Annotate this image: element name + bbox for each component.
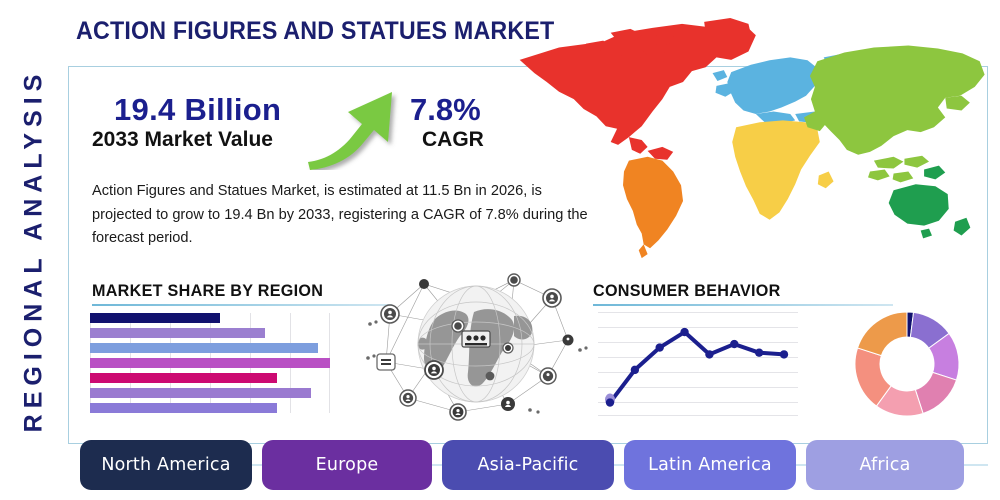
region-tab-latin-america[interactable]: Latin America <box>624 440 796 490</box>
tab-connector <box>796 464 806 466</box>
donut-slice <box>858 312 907 356</box>
tab-connector <box>252 464 262 466</box>
bar-segment <box>90 373 277 383</box>
side-label-text: REGIONAL ANALYSIS <box>20 68 49 432</box>
donut-chart-segments <box>851 308 963 420</box>
market-value-figure: 19.4 Billion <box>114 92 281 128</box>
region-tab-africa[interactable]: Africa <box>806 440 964 490</box>
market-share-section-header: MARKET SHARE BY REGION <box>92 281 392 306</box>
bar-segment <box>90 328 265 338</box>
line-chart-series <box>598 312 798 416</box>
region-tab-north-america[interactable]: North America <box>80 440 252 490</box>
regional-analysis-side-label: REGIONAL ANALYSIS <box>2 0 66 500</box>
region-tab-label: Africa <box>859 455 910 475</box>
bar-segment <box>90 403 277 413</box>
tab-connector <box>614 464 624 466</box>
cagr-figure: 7.8% <box>410 92 481 128</box>
region-tabs[interactable]: North AmericaEuropeAsia-PacificLatin Ame… <box>80 440 964 490</box>
tab-connector <box>432 464 442 466</box>
tab-connector-frame <box>964 464 988 466</box>
bar-row <box>90 388 330 398</box>
bar-segment <box>90 358 330 368</box>
market-share-bar-chart <box>90 313 330 413</box>
bar-row <box>90 403 330 413</box>
region-tab-label: North America <box>101 455 230 475</box>
bar-row <box>90 373 330 383</box>
market-value-label: 2033 Market Value <box>92 128 273 152</box>
consumer-behavior-underline <box>593 304 893 306</box>
market-description: Action Figures and Statues Market, is es… <box>92 180 602 251</box>
consumer-behavior-section-header: CONSUMER BEHAVIOR <box>593 281 893 306</box>
market-share-underline <box>92 304 392 306</box>
region-tab-asia-pacific[interactable]: Asia-Pacific <box>442 440 614 490</box>
consumer-behavior-title: CONSUMER BEHAVIOR <box>593 281 878 301</box>
region-tab-europe[interactable]: Europe <box>262 440 432 490</box>
cagr-label: CAGR <box>422 128 484 152</box>
key-stats: 19.4 Billion 2033 Market Value 7.8% CAGR <box>92 92 512 168</box>
bar-row <box>90 343 330 353</box>
region-tab-label: Europe <box>316 455 379 475</box>
bar-chart-bars <box>90 313 330 413</box>
page-title: ACTION FIGURES AND STATUES MARKET <box>76 17 554 46</box>
bar-row <box>90 328 330 338</box>
bar-segment <box>90 313 220 323</box>
global-network-globe-icon <box>362 266 588 424</box>
bar-segment <box>90 343 318 353</box>
bar-segment <box>90 388 311 398</box>
consumer-behavior-line-chart <box>598 312 798 416</box>
infographic-root: REGIONAL ANALYSIS ACTION FIGURES AND STA… <box>0 0 1000 500</box>
market-share-title: MARKET SHARE BY REGION <box>92 281 377 301</box>
growth-arrow-icon <box>304 84 404 170</box>
region-tab-label: Asia-Pacific <box>477 455 578 475</box>
bar-row <box>90 313 330 323</box>
segment-donut-chart <box>851 308 963 420</box>
region-tab-label: Latin America <box>648 455 772 475</box>
bar-row <box>90 358 330 368</box>
